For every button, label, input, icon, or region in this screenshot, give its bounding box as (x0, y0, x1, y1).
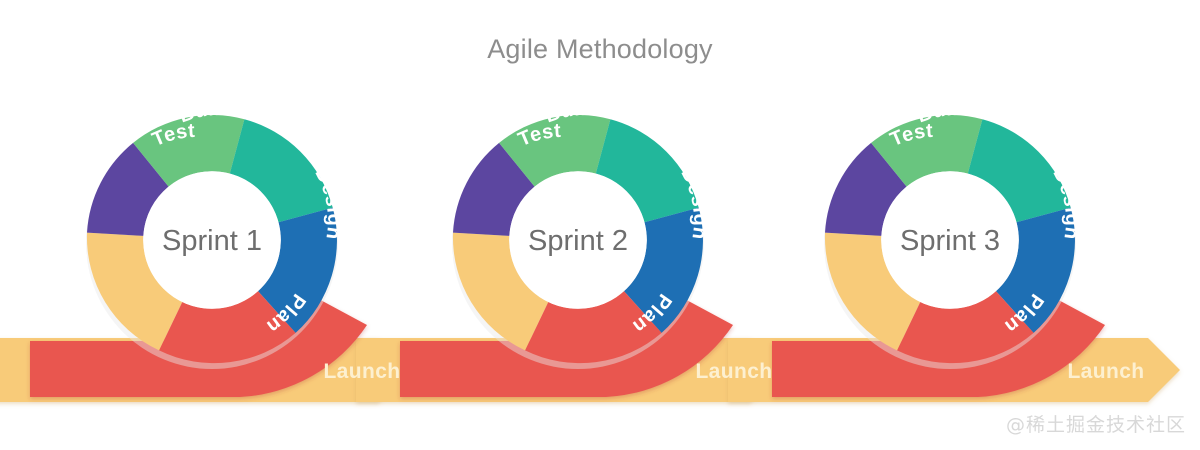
launch-label-3: Launch (1067, 360, 1144, 383)
sprint-cycle-2[interactable]: Sprint 2 (452, 115, 704, 369)
watermark: @稀土掘金技术社区 (1006, 414, 1186, 436)
sprint-cycle-1[interactable]: Sprint 1 (86, 115, 338, 369)
launch-label-2: Launch (695, 360, 772, 383)
agile-methodology-diagram: Agile Methodology Launch Launch Launch (0, 0, 1200, 450)
page-title: Agile Methodology (487, 34, 713, 64)
diagram-canvas: Agile Methodology Launch Launch Launch (0, 0, 1200, 450)
launch-label-1: Launch (323, 360, 400, 383)
sprint-3-label: Sprint 3 (900, 225, 1000, 257)
sprint-1-label: Sprint 1 (162, 225, 262, 257)
sprint-2-label: Sprint 2 (528, 225, 628, 257)
sprint-cycle-3[interactable]: Sprint 3 (824, 115, 1076, 369)
